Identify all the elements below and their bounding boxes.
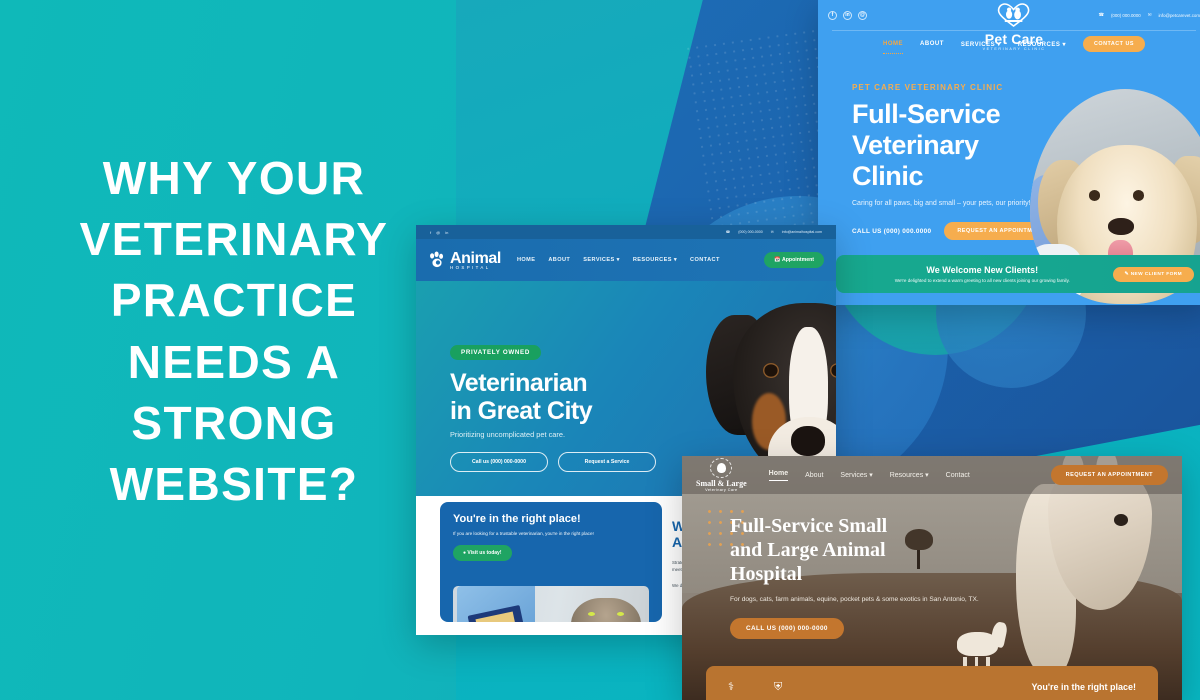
animal-email[interactable]: info@animalhospital.com xyxy=(782,230,822,234)
smalllarge-bottom-text: You're in the right place! xyxy=(1032,682,1136,692)
nav-item-about[interactable]: ABOUT xyxy=(920,41,944,47)
right-place-heading: You're in the right place! xyxy=(453,513,649,525)
horse-eye xyxy=(1114,514,1128,526)
headline-line-1: WHY YOUR xyxy=(44,148,424,209)
petcare-phone[interactable]: (000) 000.0000 xyxy=(1111,13,1141,18)
smalllarge-heading-line-3: Hospital xyxy=(730,562,980,586)
headline-line-6: WEBSITE? xyxy=(44,454,424,515)
new-clients-text: We're delighted to extend a warm greetin… xyxy=(852,278,1113,283)
nav-item-services[interactable]: Services ▾ xyxy=(840,471,872,479)
dog-eye-left xyxy=(1089,190,1100,201)
petcare-website-mockup: f in @ ☎ (000) 000.0000 ✉ info@petcareve… xyxy=(818,0,1200,305)
cat-shape xyxy=(571,598,642,622)
nav-item-about[interactable]: About xyxy=(805,472,823,479)
contact-us-button[interactable]: CONTACT US xyxy=(1083,36,1145,52)
petcare-social-links[interactable]: f in @ xyxy=(828,11,867,20)
smalllarge-logo-name: Small & Large xyxy=(696,479,747,488)
animal-phone[interactable]: (000) 000-0000 xyxy=(738,230,763,234)
animal-logo[interactable]: Animal HOSPITAL xyxy=(428,250,501,270)
smalllarge-hero-heading: Full-Service Small and Large Animal Hosp… xyxy=(730,514,980,586)
call-us-button[interactable]: Call us (000) 000-0000 xyxy=(450,452,548,472)
headline-line-4: NEEDS A xyxy=(44,332,424,393)
mail-icon: ✉ xyxy=(1148,12,1152,18)
right-place-card: You're in the right place! If you are lo… xyxy=(440,502,662,622)
small-large-website-mockup: Small & Large Veterinary Care Home About… xyxy=(682,456,1182,700)
nav-item-resources[interactable]: RESOURCES ▾ xyxy=(1018,41,1066,48)
request-service-button[interactable]: Request a Service xyxy=(558,452,656,472)
nav-item-services[interactable]: SERVICES ▾ xyxy=(961,41,1001,48)
nav-item-home[interactable]: HOME xyxy=(517,257,535,263)
smalllarge-bottom-bar: ⚕ ⛨ You're in the right place! xyxy=(706,666,1158,700)
nav-item-home[interactable]: HOME xyxy=(883,41,903,47)
nav-item-about[interactable]: ABOUT xyxy=(548,257,570,263)
appointment-button[interactable]: 📅 Appointment xyxy=(764,252,824,268)
chevron-down-icon: ▾ xyxy=(997,42,1001,48)
shield-icon: ⛨ xyxy=(774,682,782,693)
smalllarge-logo-subtitle: Veterinary Care xyxy=(696,488,747,492)
facebook-icon[interactable]: f xyxy=(430,230,431,235)
petcare-contact-info: ☎ (000) 000.0000 ✉ info@petcarevet.com xyxy=(1098,12,1200,18)
dog-nose xyxy=(791,426,826,456)
animal-topbar: f @ in ☎ (000) 000-0000 ✉ info@animalhos… xyxy=(416,225,836,239)
facebook-icon[interactable]: f xyxy=(828,11,837,20)
animal-social-links[interactable]: f @ in xyxy=(430,230,448,235)
mail-icon: ✉ xyxy=(771,230,774,234)
call-us-button[interactable]: CALL US (000) 000-0000 xyxy=(730,618,844,639)
horse-emblem-icon xyxy=(710,458,732,478)
headline-line-5: STRONG xyxy=(44,393,424,454)
vet-and-cat-photo xyxy=(453,586,649,622)
new-client-form-button[interactable]: ✎ NEW CLIENT FORM xyxy=(1113,267,1194,282)
nav-item-resources[interactable]: Resources ▾ xyxy=(890,471,929,479)
linkedin-icon[interactable]: in xyxy=(843,11,852,20)
new-clients-banner-text: We Welcome New Clients! We're delighted … xyxy=(852,265,1113,283)
petcare-eyebrow: PET CARE VETERINARY CLINIC xyxy=(852,83,1200,92)
linkedin-icon[interactable]: in xyxy=(445,230,448,235)
paw-print-icon xyxy=(428,251,446,269)
cat-eye-right xyxy=(617,612,625,616)
chevron-down-icon: ▾ xyxy=(1063,42,1067,48)
cat-eye-left xyxy=(588,612,596,616)
headline-line-3: PRACTICE xyxy=(44,270,424,331)
feature-medical-kit[interactable]: ⚕ xyxy=(728,682,734,693)
smalllarge-hero-content: Full-Service Small and Large Animal Hosp… xyxy=(730,514,980,639)
chevron-down-icon: ▾ xyxy=(925,472,929,479)
smalllarge-menu[interactable]: Home About Services ▾ Resources ▾ Contac… xyxy=(769,470,970,481)
petcare-email[interactable]: info@petcarevet.com xyxy=(1158,13,1200,18)
page-title: WHY YOUR VETERINARY PRACTICE NEEDS A STR… xyxy=(44,148,424,515)
location-pin-icon: ● xyxy=(463,550,466,556)
privately-owned-badge: PRIVATELY OWNED xyxy=(450,345,541,360)
nav-item-home[interactable]: Home xyxy=(769,470,788,481)
new-clients-heading: We Welcome New Clients! xyxy=(852,265,1113,275)
animal-contact-info: ☎ (000) 000-0000 ✉ info@animalhospital.c… xyxy=(726,230,822,234)
new-clients-banner: We Welcome New Clients! We're delighted … xyxy=(836,255,1200,293)
instagram-icon[interactable]: @ xyxy=(436,230,440,235)
phone-icon: ☎ xyxy=(726,230,730,234)
nav-item-resources[interactable]: RESOURCES ▾ xyxy=(633,257,677,263)
smalllarge-navigation-bar: Small & Large Veterinary Care Home About… xyxy=(682,456,1182,494)
dog-eye-right xyxy=(1133,190,1144,201)
visit-us-today-button[interactable]: ● Visit us today! xyxy=(453,545,512,561)
nav-item-contact[interactable]: CONTACT xyxy=(690,257,720,263)
pencil-icon: ✎ xyxy=(1125,272,1129,277)
smalllarge-heading-line-1: Full-Service Small xyxy=(730,514,980,538)
animal-menu[interactable]: HOME ABOUT SERVICES ▾ RESOURCES ▾ CONTAC… xyxy=(517,257,720,263)
calendar-icon: 📅 xyxy=(774,257,780,263)
headline-line-2: VETERINARY xyxy=(44,209,424,270)
petcare-call-link[interactable]: CALL US (000) 000.0000 xyxy=(852,228,931,235)
medical-kit-icon: ⚕ xyxy=(728,682,734,693)
chevron-down-icon: ▾ xyxy=(617,257,620,263)
phone-icon: ☎ xyxy=(1098,12,1103,18)
petcare-hero: PET CARE VETERINARY CLINIC Full-Service … xyxy=(818,57,1200,257)
feature-shield[interactable]: ⛨ xyxy=(774,682,782,693)
petcare-navigation[interactable]: HOME ABOUT SERVICES ▾ RESOURCES ▾ CONTAC… xyxy=(818,31,1200,57)
chevron-down-icon: ▾ xyxy=(869,472,873,479)
nav-item-services[interactable]: SERVICES ▾ xyxy=(583,257,620,263)
heart-pets-logo-icon xyxy=(997,2,1031,28)
chevron-down-icon: ▾ xyxy=(674,257,677,263)
nav-item-contact[interactable]: Contact xyxy=(946,472,970,479)
smalllarge-heading-line-2: and Large Animal xyxy=(730,538,980,562)
dog-nose xyxy=(1108,218,1135,235)
smalllarge-logo[interactable]: Small & Large Veterinary Care xyxy=(696,458,747,492)
instagram-icon[interactable]: @ xyxy=(858,11,867,20)
request-appointment-button[interactable]: REQUEST AN APPOINTMENT xyxy=(1051,465,1168,485)
right-place-text: If you are looking for a trustable veter… xyxy=(453,531,649,536)
smalllarge-hero-subtitle: For dogs, cats, farm animals, equine, po… xyxy=(730,595,980,606)
